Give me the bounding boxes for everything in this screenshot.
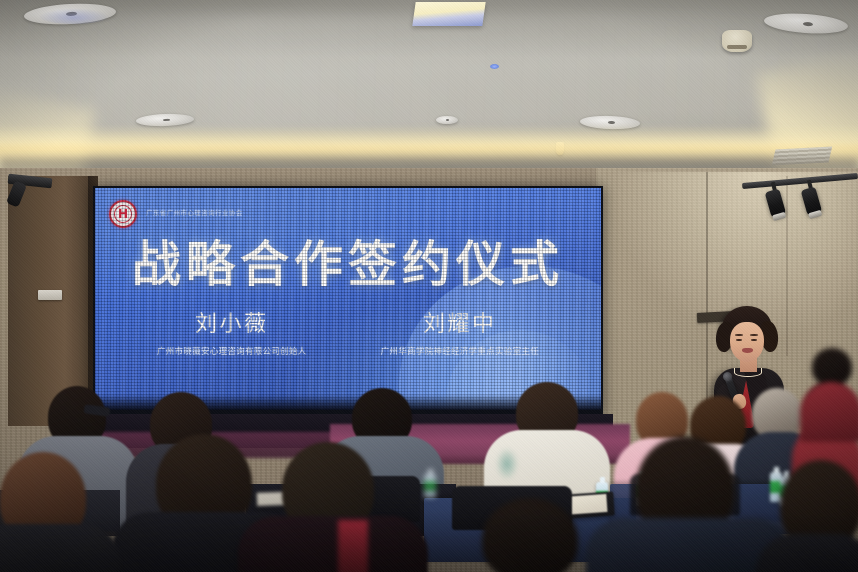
signatory-name: 刘耀中 [381, 306, 539, 338]
conference-photo-scene: H 广东省广州市心理咨询行业协会 战略合作签约仪式 刘小薇 广州市晓薇安心理咨询… [0, 0, 858, 572]
hoodie-trim [338, 520, 368, 572]
audience-torso [800, 382, 858, 442]
recessed-panel-light-icon [412, 2, 485, 26]
ceremony-title: 战略合作签约仪式 [95, 240, 601, 289]
ceiling [0, 0, 858, 172]
audience-torso [0, 524, 120, 572]
cove-light-band [0, 126, 858, 162]
signatory-entry: 刘小薇 广州市晓薇安心理咨询有限公司创始人 [157, 306, 307, 357]
presenter-necklace [734, 368, 762, 377]
audience-head [482, 498, 578, 572]
signatory-list: 刘小薇 广州市晓薇安心理咨询有限公司创始人 刘耀中 广州华商学院神经经济学重点实… [95, 306, 601, 357]
presenter-brow [735, 334, 743, 336]
signatory-entry: 刘耀中 广州华商学院神经经济学重点实验室主任 [381, 306, 539, 357]
led-screen: H 广东省广州市心理咨询行业协会 战略合作签约仪式 刘小薇 广州市晓薇安心理咨询… [95, 188, 601, 410]
shirt-pattern [496, 448, 518, 480]
indicator-led-icon [490, 64, 499, 69]
wall-plaque [38, 290, 62, 300]
signatory-title: 广州华商学院神经经济学重点实验室主任 [381, 345, 539, 357]
org-logo-glyph: H [118, 208, 128, 220]
audience-torso [238, 516, 428, 572]
ceiling-downlight-icon [436, 116, 458, 124]
ceiling-speaker-glow [38, 8, 110, 24]
signatory-name: 刘小薇 [157, 306, 307, 338]
led-screen-frame: H 广东省广州市心理咨询行业协会 战略合作签约仪式 刘小薇 广州市晓薇安心理咨询… [93, 186, 603, 418]
audience-head [812, 348, 852, 386]
water-bottle-icon [424, 474, 436, 498]
presenter-mouth [742, 348, 753, 353]
organization-name: 广东省广州市心理咨询行业协会 [146, 210, 243, 218]
presenter-face [730, 322, 764, 362]
org-seal-logo-icon: H [109, 200, 137, 228]
organization-header: H 广东省广州市心理咨询行业协会 [109, 200, 243, 228]
presenter-brow [750, 334, 758, 336]
signatory-title: 广州市晓薇安心理咨询有限公司创始人 [157, 345, 307, 357]
smoke-detector-icon [722, 30, 752, 52]
